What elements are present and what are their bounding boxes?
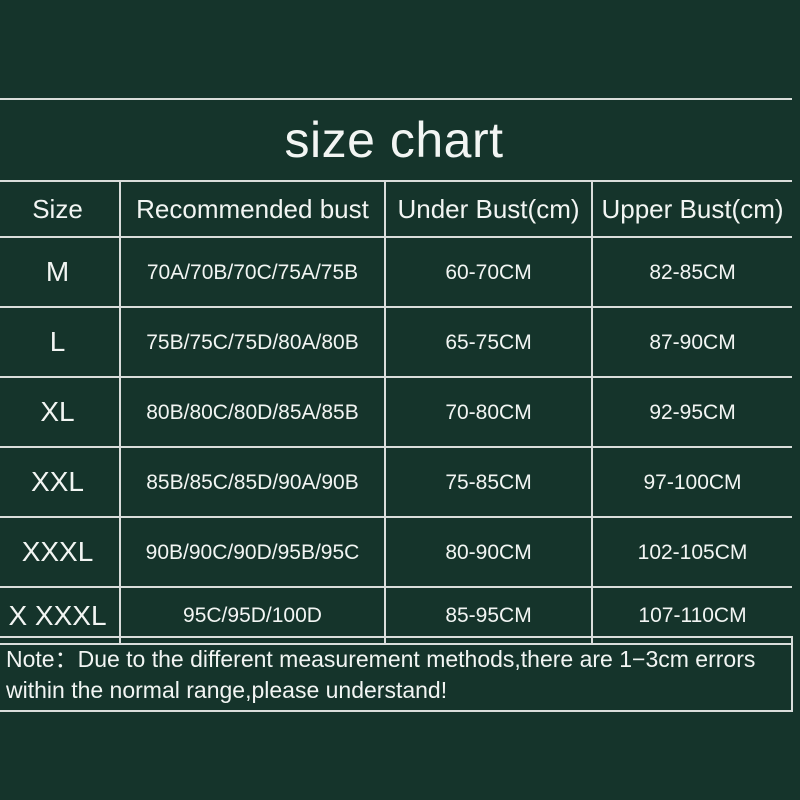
cell-upper-bust: 82-85CM: [592, 237, 792, 307]
table-row: M 70A/70B/70C/75A/75B 60-70CM 82-85CM: [0, 237, 792, 307]
cell-under-bust: 65-75CM: [385, 307, 592, 377]
column-header-under-bust: Under Bust(cm): [385, 181, 592, 237]
cell-recommended-bust: 80B/80C/80D/85A/85B: [120, 377, 385, 447]
cell-upper-bust: 97-100CM: [592, 447, 792, 517]
cell-under-bust: 80-90CM: [385, 517, 592, 587]
size-chart-page: size chart Size Recommended bust Under B…: [0, 0, 800, 800]
table-row: XXL 85B/85C/85D/90A/90B 75-85CM 97-100CM: [0, 447, 792, 517]
column-header-upper-bust: Upper Bust(cm): [592, 181, 792, 237]
column-header-size: Size: [0, 181, 120, 237]
cell-upper-bust: 87-90CM: [592, 307, 792, 377]
cell-size: XXL: [0, 447, 120, 517]
cell-size: L: [0, 307, 120, 377]
note-box: Note：Due to the different measurement me…: [0, 636, 793, 712]
note-text: Note：Due to the different measurement me…: [6, 644, 781, 705]
table-row: XL 80B/80C/80D/85A/85B 70-80CM 92-95CM: [0, 377, 792, 447]
table-title-row: size chart: [0, 99, 792, 181]
cell-size: XL: [0, 377, 120, 447]
cell-size: M: [0, 237, 120, 307]
page-title: size chart: [0, 99, 792, 181]
cell-recommended-bust: 85B/85C/85D/90A/90B: [120, 447, 385, 517]
cell-upper-bust: 102-105CM: [592, 517, 792, 587]
cell-recommended-bust: 70A/70B/70C/75A/75B: [120, 237, 385, 307]
cell-size: XXXL: [0, 517, 120, 587]
cell-recommended-bust: 90B/90C/90D/95B/95C: [120, 517, 385, 587]
table-row: L 75B/75C/75D/80A/80B 65-75CM 87-90CM: [0, 307, 792, 377]
cell-under-bust: 75-85CM: [385, 447, 592, 517]
cell-upper-bust: 92-95CM: [592, 377, 792, 447]
column-header-recommended-bust: Recommended bust: [120, 181, 385, 237]
table-header-row: Size Recommended bust Under Bust(cm) Upp…: [0, 181, 792, 237]
table-row: XXXL 90B/90C/90D/95B/95C 80-90CM 102-105…: [0, 517, 792, 587]
size-chart-table: size chart Size Recommended bust Under B…: [0, 98, 792, 667]
cell-under-bust: 60-70CM: [385, 237, 592, 307]
cell-recommended-bust: 75B/75C/75D/80A/80B: [120, 307, 385, 377]
cell-under-bust: 70-80CM: [385, 377, 592, 447]
